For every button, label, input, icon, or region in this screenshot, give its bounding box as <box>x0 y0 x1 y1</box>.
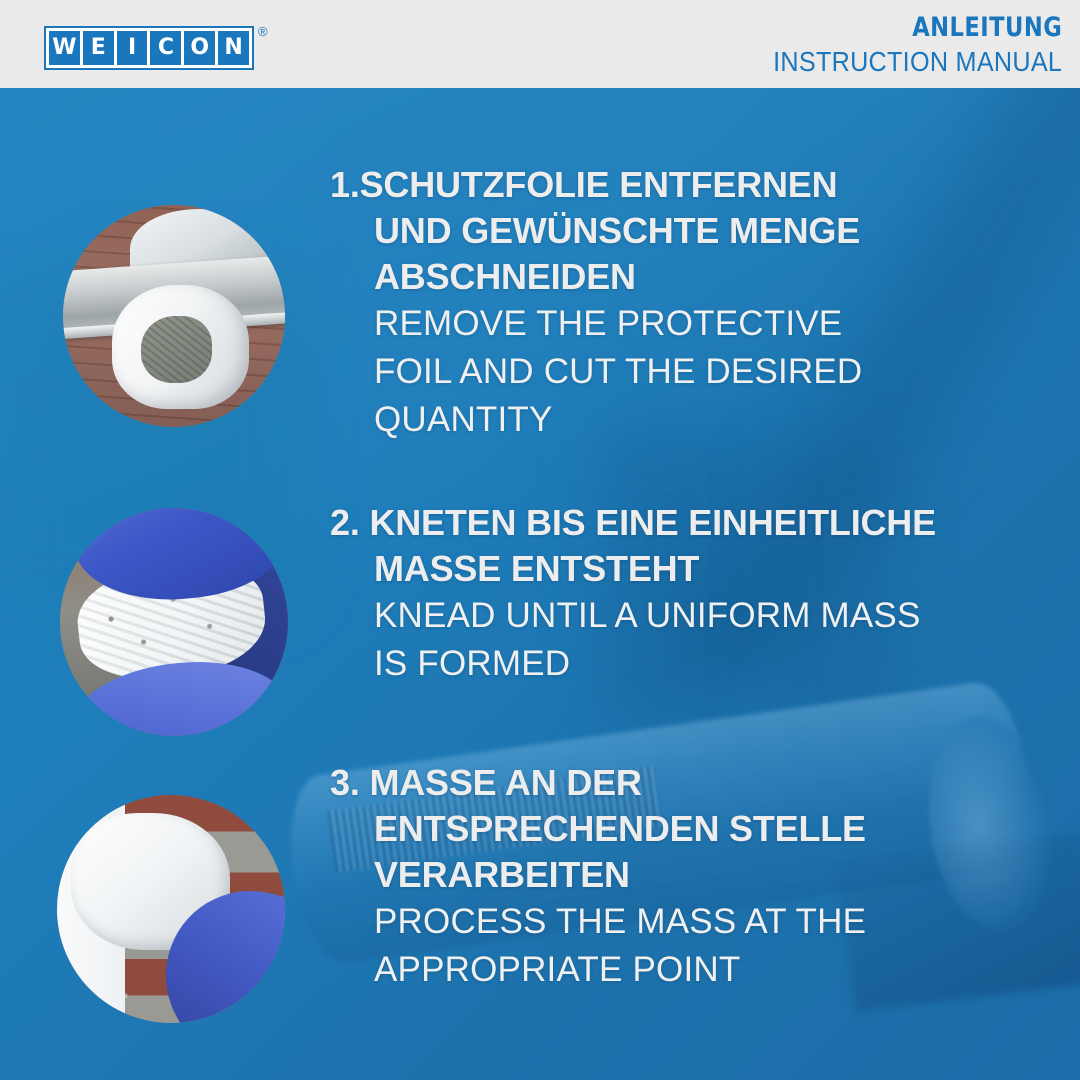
step-2-line-en-0: KNEAD UNTIL A UNIFORM MASS <box>374 592 1030 640</box>
logo-letter-c: C <box>150 31 181 65</box>
logo-letter-w: W <box>49 31 80 65</box>
step-2: 2. KNETEN BIS EINE EINHEITLICHE MASSE EN… <box>330 500 1030 688</box>
step-3-line-de-1: ENTSPRECHENDEN STELLE <box>330 806 990 852</box>
weicon-logo[interactable]: W E I C O N <box>44 26 254 70</box>
step-1-title-en: REMOVE THE PROTECTIVE FOIL AND CUT THE D… <box>330 300 990 444</box>
step-3: 3. MASSE AN DER ENTSPRECHENDEN STELLE VE… <box>330 760 990 994</box>
step-1-line-en-2: QUANTITY <box>374 396 990 444</box>
step-1-title-de: 1.SCHUTZFOLIE ENTFERNEN UND GEWÜNSCHTE M… <box>330 162 990 300</box>
header-title-en: INSTRUCTION MANUAL <box>773 48 1062 76</box>
step-2-line-de-0: 2. KNETEN BIS EINE EINHEITLICHE <box>330 502 936 543</box>
step-1-line-en-0: REMOVE THE PROTECTIVE <box>374 300 990 348</box>
header-bar: W E I C O N ® ANLEITUNG INSTRUCTION MANU… <box>0 0 1080 88</box>
step-3-line-de-2: VERARBEITEN <box>330 852 990 898</box>
registered-trademark-icon: ® <box>258 24 268 39</box>
step-3-title-de: 3. MASSE AN DER ENTSPRECHENDEN STELLE VE… <box>330 760 990 898</box>
header-title-de: ANLEITUNG <box>763 14 1062 41</box>
step-3-title-en: PROCESS THE MASS AT THE APPROPRIATE POIN… <box>330 898 990 994</box>
step-1-number: 1. <box>330 164 360 205</box>
step-1: 1.SCHUTZFOLIE ENTFERNEN UND GEWÜNSCHTE M… <box>330 162 990 444</box>
logo-letter-i: I <box>117 31 148 65</box>
step-3-number: 3. <box>330 762 360 803</box>
instruction-manual-page: 1.SCHUTZFOLIE ENTFERNEN UND GEWÜNSCHTE M… <box>0 0 1080 1080</box>
logo-letter-e: E <box>83 31 114 65</box>
header-titles: ANLEITUNG INSTRUCTION MANUAL <box>741 14 1062 76</box>
logo-letter-n: N <box>218 31 249 65</box>
step-2-number: 2. <box>330 502 360 543</box>
step-3-line-en-0: PROCESS THE MASS AT THE <box>374 898 990 946</box>
logo-letter-o: O <box>184 31 215 65</box>
step-1-line-en-1: FOIL AND CUT THE DESIRED <box>374 348 990 396</box>
step-3-line-de-0: 3. MASSE AN DER <box>330 762 642 803</box>
step-1-line-de-1: UND GEWÜNSCHTE MENGE <box>330 208 990 254</box>
step-1-line-de-2: ABSCHNEIDEN <box>330 254 990 300</box>
step-2-title-en: KNEAD UNTIL A UNIFORM MASS IS FORMED <box>330 592 1030 688</box>
step-3-line-en-1: APPROPRIATE POINT <box>374 946 990 994</box>
steps-container: 1.SCHUTZFOLIE ENTFERNEN UND GEWÜNSCHTE M… <box>0 88 1080 1080</box>
step-2-line-de-1: MASSE ENTSTEHT <box>330 546 1030 592</box>
step-2-title-de: 2. KNETEN BIS EINE EINHEITLICHE MASSE EN… <box>330 500 1030 592</box>
step-1-line-de-0: 1.SCHUTZFOLIE ENTFERNEN <box>330 164 837 205</box>
step-2-line-en-1: IS FORMED <box>374 640 1030 688</box>
